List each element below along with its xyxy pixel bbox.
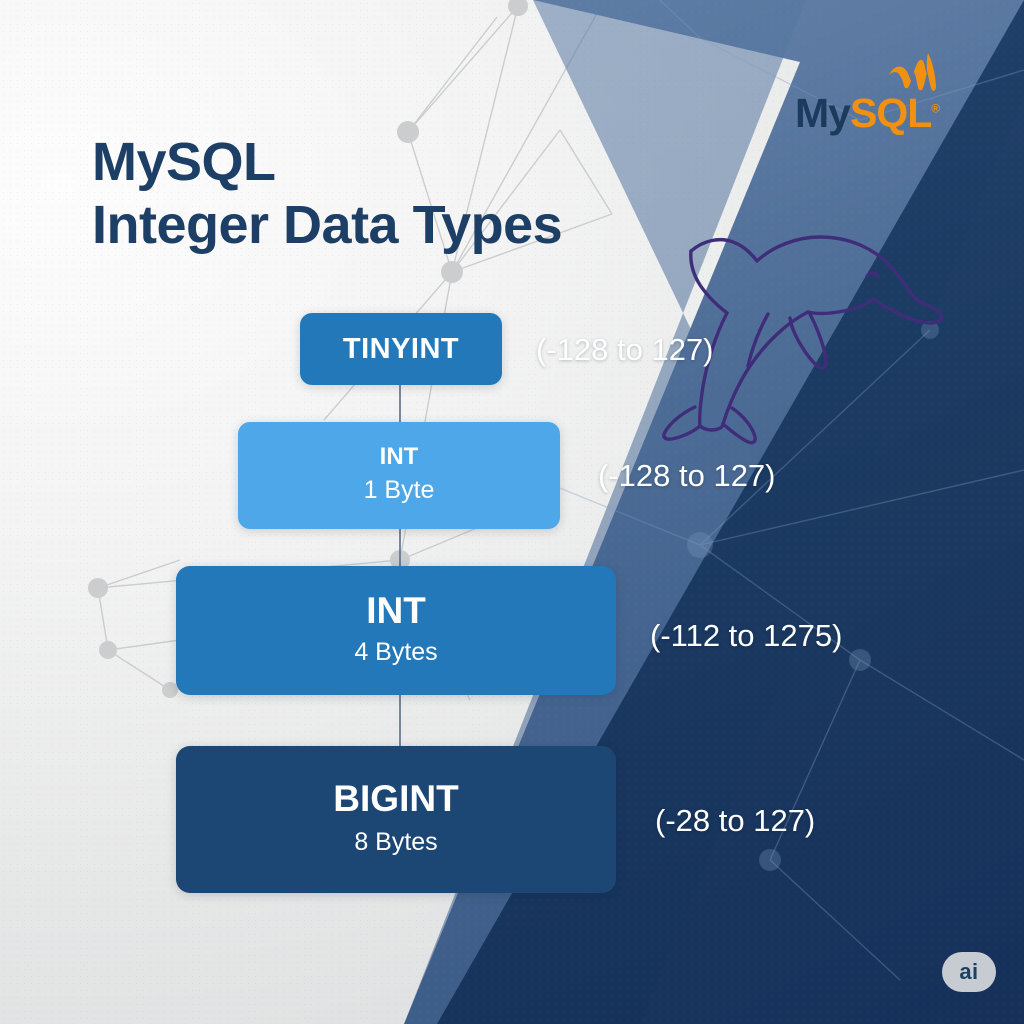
type-box-bigint[interactable]: BIGINT 8 Bytes [176,746,616,893]
type-size-bigint: 8 Bytes [354,827,437,858]
mysql-wordmark: MySQL® [795,93,939,134]
type-box-int-1byte[interactable]: INT 1 Byte [238,422,560,529]
mysql-sql-text: SQL [850,90,931,136]
type-name-tinyint: TINYINT [343,334,459,364]
title-line-2: Integer Data Types [92,194,562,257]
type-box-int-4bytes[interactable]: INT 4 Bytes [176,566,616,695]
type-name-int-1byte: INT [380,444,419,469]
type-name-bigint: BIGINT [333,780,458,819]
range-label-int-4bytes: (-112 to 1275) [650,618,842,654]
ai-watermark-badge: ai [942,952,996,992]
page-title: MySQL Integer Data Types [92,68,562,321]
mysql-my-text: My [795,90,850,136]
range-label-bigint: (-28 to 127) [655,803,815,839]
title-line-1: MySQL [92,132,276,192]
type-size-int-1byte: 1 Byte [364,475,435,506]
type-name-int-4bytes: INT [366,592,426,631]
range-label-tinyint: (-128 to 127) [536,332,714,368]
type-box-tinyint[interactable]: TINYINT [300,313,502,385]
mysql-trademark-symbol: ® [931,101,939,115]
mysql-logo: MySQL® [795,52,970,140]
infographic-canvas: MySQL Integer Data Types MySQL® [0,0,1024,1024]
range-label-int-1byte: (-128 to 127) [598,458,776,494]
type-size-int-4bytes: 4 Bytes [354,637,437,668]
